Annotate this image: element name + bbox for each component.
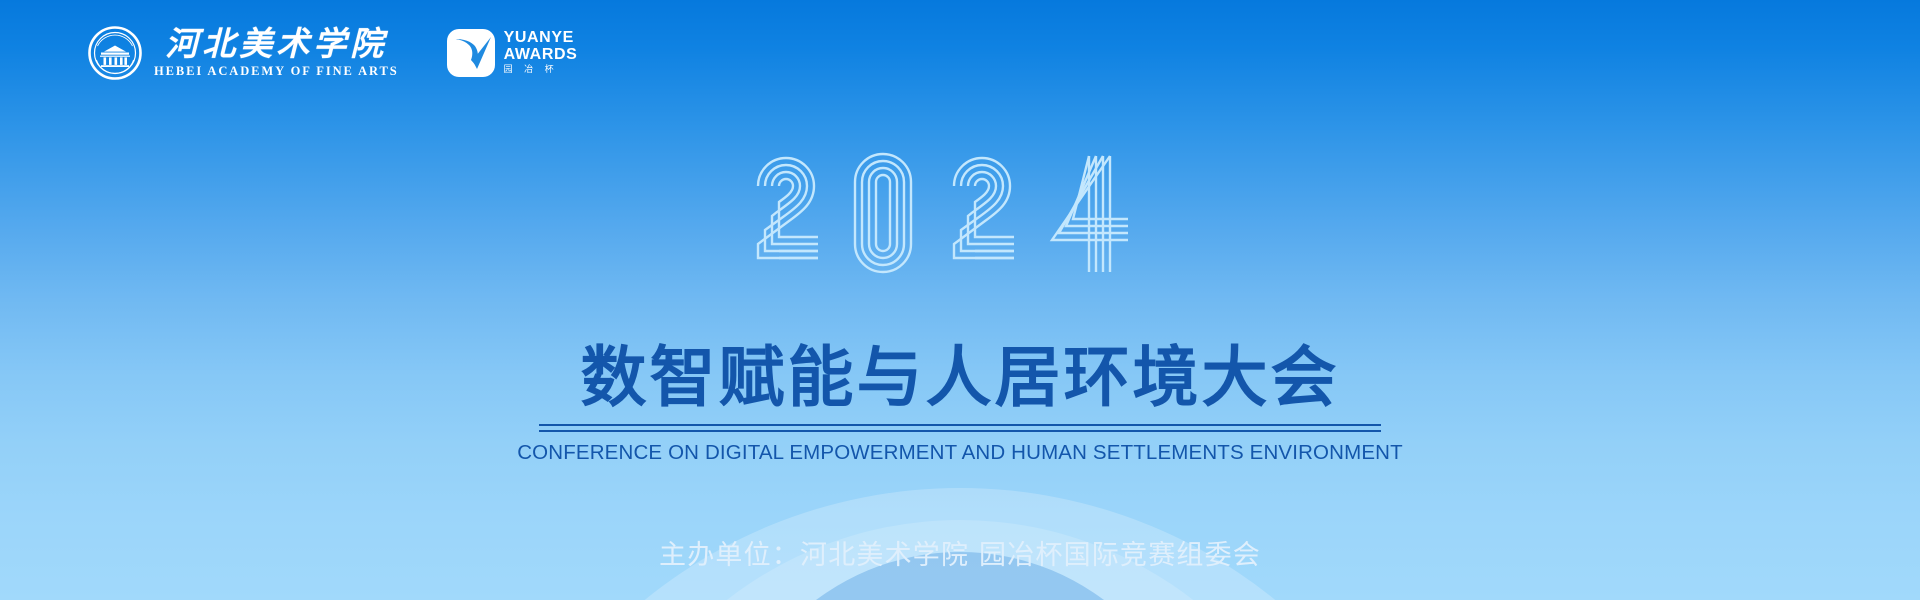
conference-title-chinese: 数智赋能与人居环境大会 bbox=[510, 342, 1410, 413]
year-2024-striped-svg bbox=[750, 140, 1170, 290]
yuanye-wordmark: YUANYE AWARDS 园 冶 杯 bbox=[504, 30, 578, 76]
hebei-academy-logo[interactable]: 河北美术学院 HEBEI ACADEMY OF FINE ARTS bbox=[88, 26, 399, 80]
yuanye-line2: AWARDS bbox=[504, 47, 578, 63]
title-rules bbox=[539, 424, 1381, 432]
year-graphic: 2024 bbox=[750, 140, 1170, 290]
title-rule-top bbox=[539, 424, 1381, 426]
yuanye-leaf-mark-icon bbox=[447, 29, 495, 77]
yuanye-line1: YUANYE bbox=[504, 30, 578, 46]
academy-seal-icon bbox=[88, 26, 142, 80]
title-rule-bottom bbox=[539, 430, 1381, 432]
organizer-line: 主办单位：河北美术学院 园冶杯国际竞赛组委会 bbox=[659, 533, 1261, 572]
yuanye-awards-logo[interactable]: YUANYE AWARDS 园 冶 杯 bbox=[447, 29, 578, 77]
conference-title-english: CONFERENCE ON DIGITAL EMPOWERMENT AND HU… bbox=[510, 441, 1410, 465]
hebei-chinese-name: 河北美术学院 bbox=[165, 29, 387, 62]
yuanye-chinese-name: 园 冶 杯 bbox=[504, 64, 578, 76]
logo-bar: 河北美术学院 HEBEI ACADEMY OF FINE ARTS YUANYE… bbox=[88, 26, 577, 80]
conference-banner: 河北美术学院 HEBEI ACADEMY OF FINE ARTS YUANYE… bbox=[0, 0, 1920, 600]
title-block: 数智赋能与人居环境大会 CONFERENCE ON DIGITAL EMPOWE… bbox=[510, 342, 1410, 465]
hebei-academy-wordmark: 河北美术学院 HEBEI ACADEMY OF FINE ARTS bbox=[154, 29, 399, 78]
hebei-english-name: HEBEI ACADEMY OF FINE ARTS bbox=[154, 65, 399, 78]
